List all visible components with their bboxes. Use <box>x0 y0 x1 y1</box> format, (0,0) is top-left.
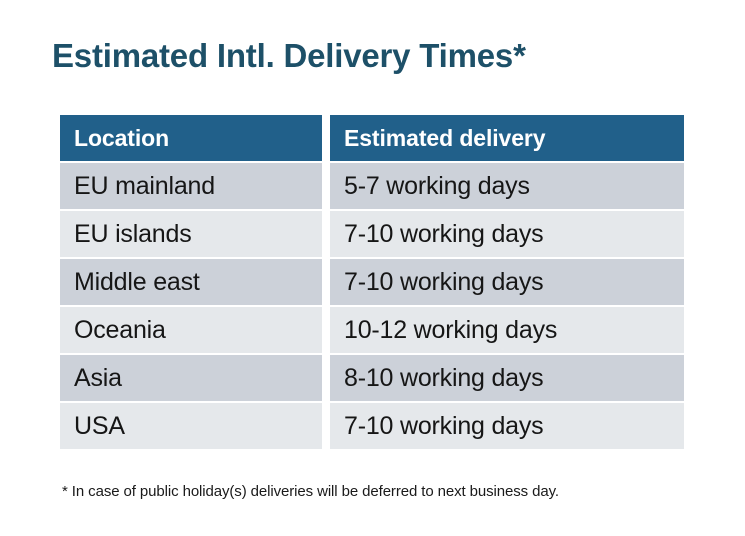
footnote-text: * In case of public holiday(s) deliverie… <box>62 482 559 502</box>
table-row: Asia 8-10 working days <box>60 355 684 401</box>
column-header-location: Location <box>60 115 322 161</box>
cell-estimated-delivery: 7-10 working days <box>330 403 684 449</box>
column-header-estimated-delivery: Estimated delivery <box>330 115 684 161</box>
table-header: Location Estimated delivery <box>60 115 684 161</box>
cell-location: Middle east <box>60 259 322 305</box>
delivery-times-page: Estimated Intl. Delivery Times* Location… <box>0 0 745 536</box>
cell-location: EU mainland <box>60 163 322 209</box>
table-row: EU islands 7-10 working days <box>60 211 684 257</box>
cell-location: Oceania <box>60 307 322 353</box>
table-row: Middle east 7-10 working days <box>60 259 684 305</box>
page-title: Estimated Intl. Delivery Times* <box>52 36 526 76</box>
table-row: EU mainland 5-7 working days <box>60 163 684 209</box>
cell-estimated-delivery: 10-12 working days <box>330 307 684 353</box>
cell-location: EU islands <box>60 211 322 257</box>
table-row: USA 7-10 working days <box>60 403 684 449</box>
cell-location: USA <box>60 403 322 449</box>
cell-estimated-delivery: 7-10 working days <box>330 259 684 305</box>
table-body: EU mainland 5-7 working days EU islands … <box>60 163 684 449</box>
table-header-row: Location Estimated delivery <box>60 115 684 161</box>
table-row: Oceania 10-12 working days <box>60 307 684 353</box>
cell-estimated-delivery: 8-10 working days <box>330 355 684 401</box>
estimated-delivery-table: Location Estimated delivery EU mainland … <box>52 113 692 451</box>
cell-location: Asia <box>60 355 322 401</box>
cell-estimated-delivery: 7-10 working days <box>330 211 684 257</box>
cell-estimated-delivery: 5-7 working days <box>330 163 684 209</box>
